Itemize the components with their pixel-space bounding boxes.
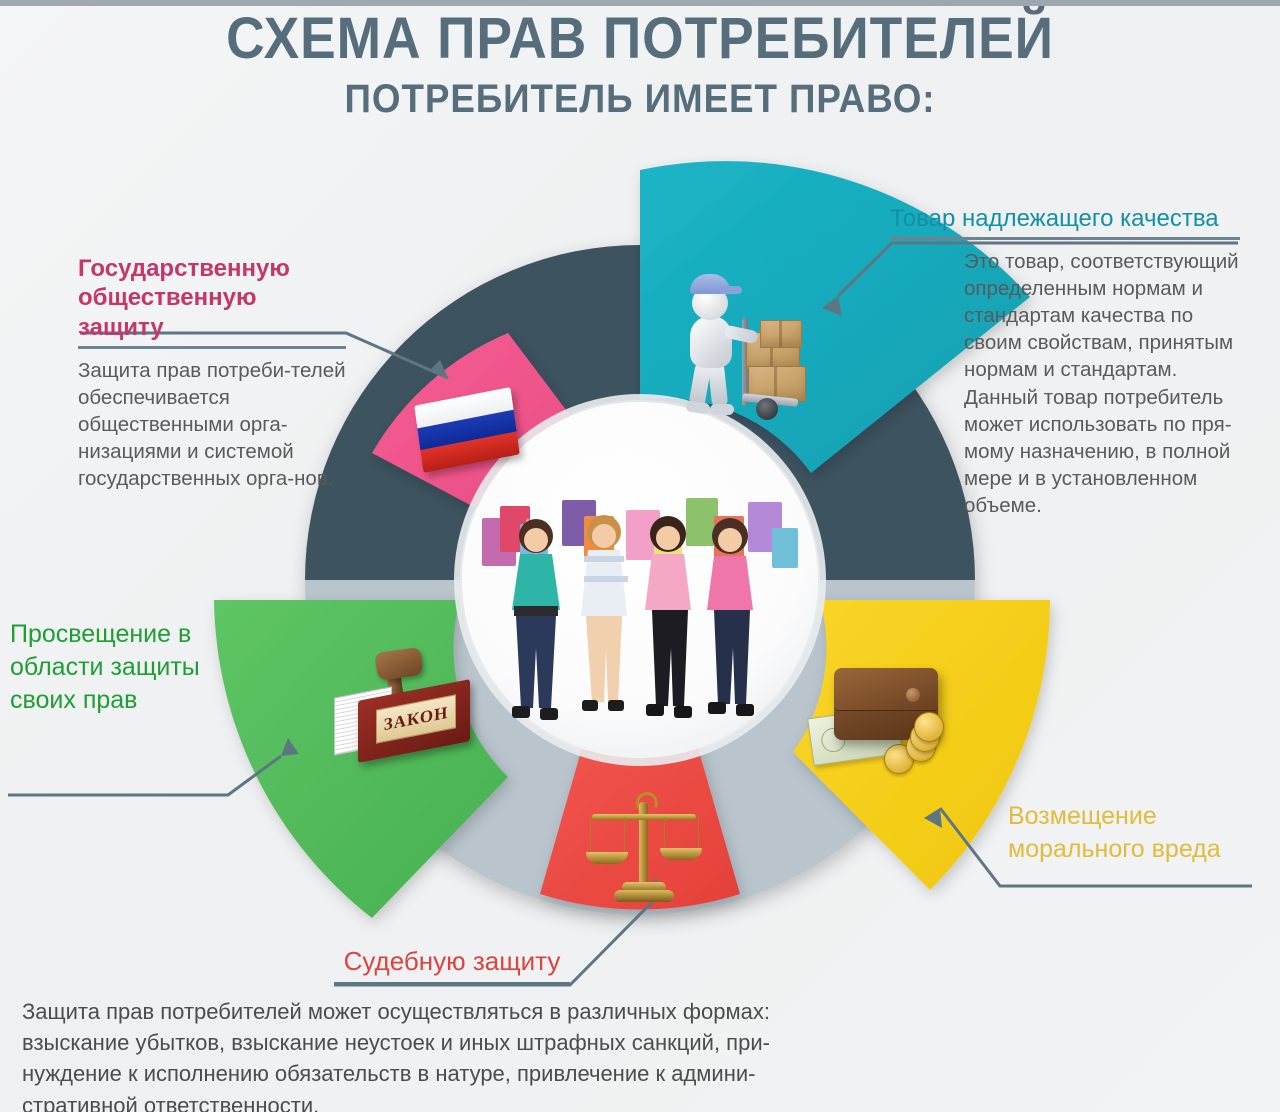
wallet-flap — [834, 668, 938, 711]
callout-moral-heading: Возмещение морального вреда — [1008, 800, 1270, 865]
scales-of-justice-icon — [584, 790, 704, 910]
scales-base-plinth — [614, 890, 674, 902]
callout-court-rule — [334, 982, 570, 985]
arrow-state — [430, 360, 448, 378]
callout-court-body: Защита прав потребителей может осуществл… — [22, 996, 782, 1112]
callout-education: Просвещение в области защиты своих прав — [10, 618, 222, 717]
callout-moral-damages: Возмещение морального вреда — [1008, 800, 1270, 865]
figure-foot — [685, 400, 710, 414]
callout-proper-quality-goods: Товар надлежащего качества Это товар, со… — [890, 204, 1240, 519]
connector-education — [8, 756, 281, 795]
law-book-gavel-icon: ЗАКОН — [330, 650, 480, 768]
russian-flag-icon — [414, 387, 520, 473]
callout-goods-body: Это товар, соответствующий определенным … — [890, 248, 1240, 518]
title-subtitle: ПОТРЕБИТЕЛЬ ИМЕЕТ ПРАВО: — [51, 75, 1229, 123]
scales-pan-left — [586, 852, 628, 864]
callout-state-body: Защита прав потреби-телей обеспечивается… — [78, 357, 346, 492]
scales-chain — [624, 817, 625, 853]
delivery-man-boxes-icon — [672, 272, 812, 422]
scales-beam — [592, 814, 696, 820]
center-shopping-women-image — [476, 470, 804, 750]
callout-goods-rule — [890, 237, 1240, 240]
shopping-women-svg — [476, 470, 804, 750]
coin-icon — [914, 712, 944, 742]
hand-truck-wheel — [756, 398, 778, 420]
arrow-moral — [924, 808, 942, 828]
delivery-cap-icon — [690, 274, 730, 294]
figure-leg — [708, 361, 729, 408]
scales-chain — [590, 817, 591, 853]
callout-goods-heading: Товар надлежащего качества — [890, 204, 1240, 233]
scales-pan-right — [660, 848, 702, 860]
wallet-money-icon — [810, 660, 960, 780]
title-main: СХЕМА ПРАВ ПОТРЕБИТЕЛЕЙ — [51, 8, 1229, 71]
gavel-head — [374, 647, 423, 681]
callout-judicial-protection: Судебную защиту — [334, 946, 570, 993]
callout-education-heading: Просвещение в области защиты своих прав — [10, 618, 222, 717]
arrow-education — [281, 738, 299, 756]
callout-state-rule — [78, 346, 346, 349]
page-title: СХЕМА ПРАВ ПОТРЕБИТЕЛЕЙ ПОТРЕБИТЕЛЬ ИМЕЕ… — [0, 8, 1280, 123]
wallet-snap-button — [906, 688, 920, 702]
infographic-page: СХЕМА ПРАВ ПОТРЕБИТЕЛЕЙ ПОТРЕБИТЕЛЬ ИМЕЕ… — [0, 0, 1280, 1112]
figure-foot — [710, 404, 734, 415]
callout-state-heading: Государственную общественную защиту — [78, 254, 346, 342]
cardboard-box — [760, 320, 802, 348]
figure-body — [690, 316, 732, 368]
callout-court-heading: Судебную защиту — [334, 946, 570, 978]
callout-state-protection: Государственную общественную защиту Защи… — [78, 254, 346, 492]
arrow-goods — [822, 296, 842, 316]
